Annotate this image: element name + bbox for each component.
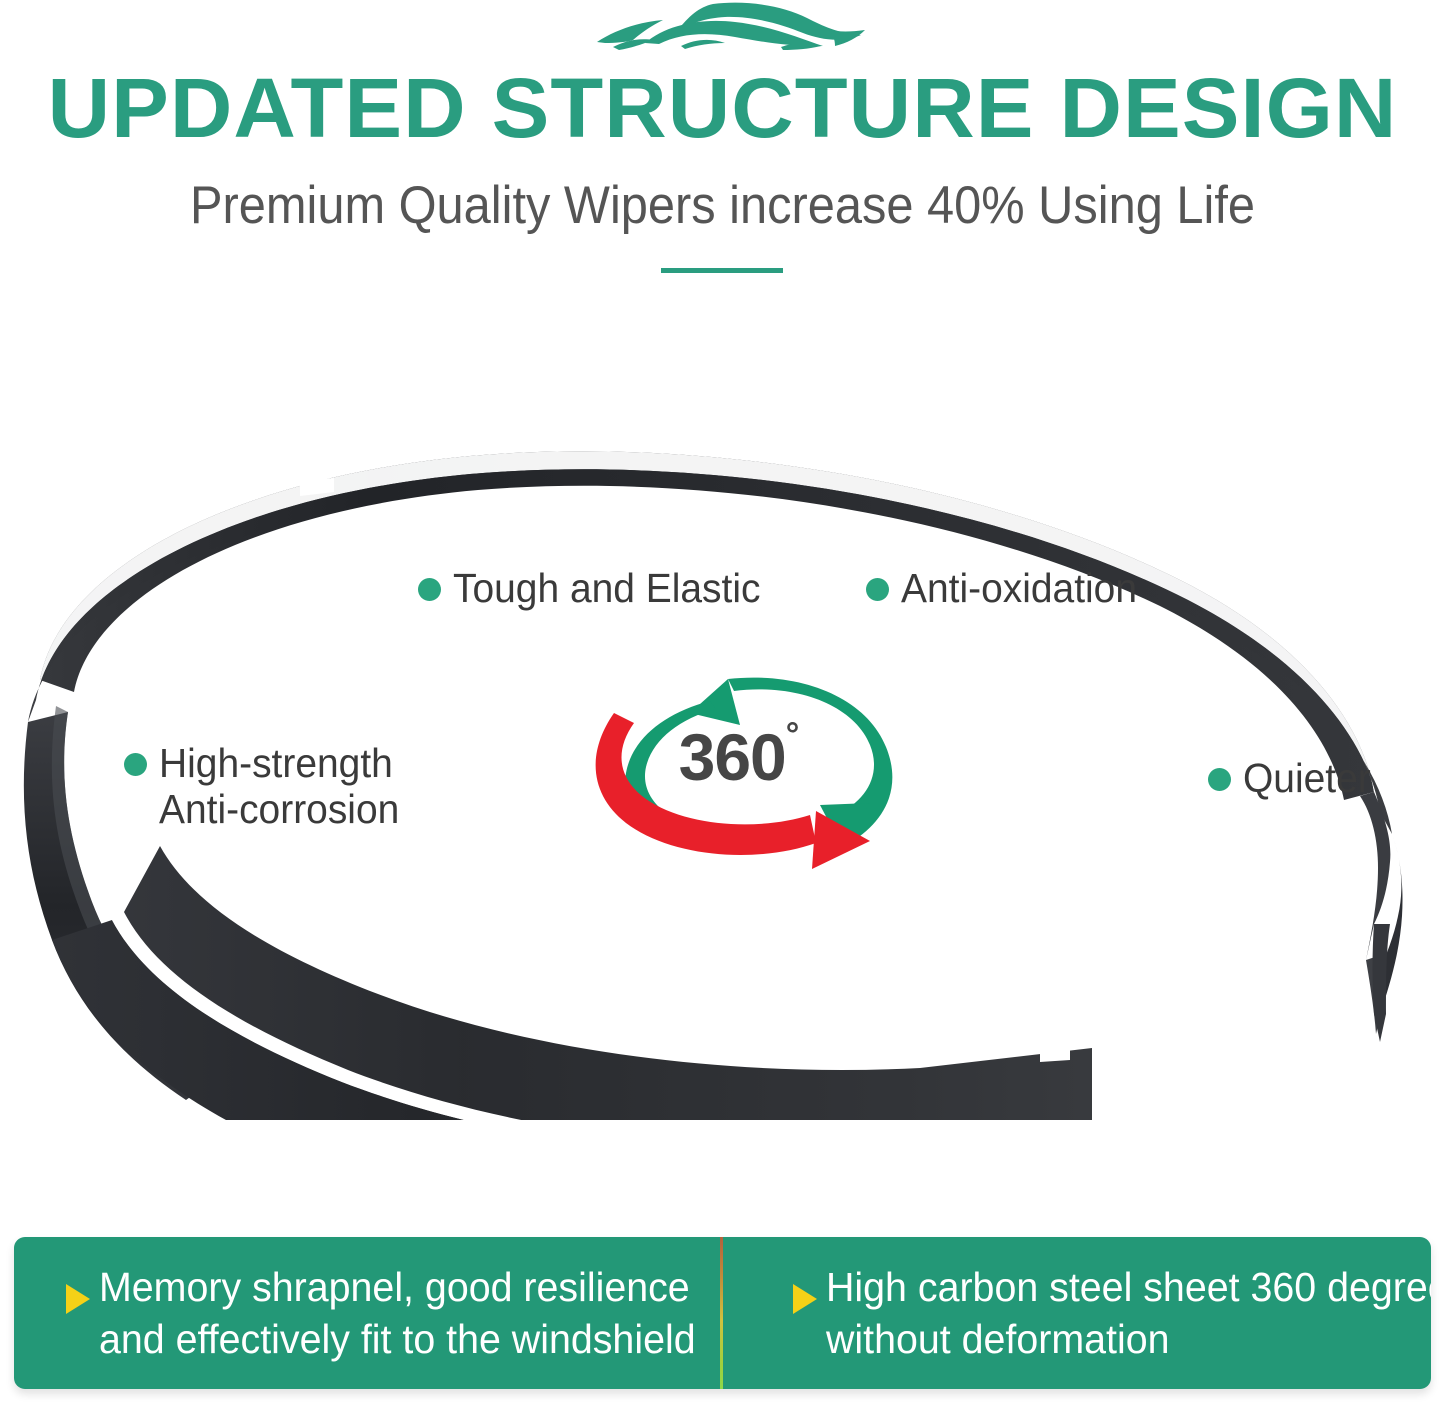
page-title: UPDATED STRUCTURE DESIGN [0, 62, 1445, 154]
title-underline-divider [661, 268, 783, 273]
triangle-bullet-icon [66, 1284, 90, 1314]
banner-left-line2: and effectively fit to the windshield [99, 1313, 696, 1365]
strip-notch-back-2 [288, 540, 322, 558]
feature-label-line2: Anti-corrosion [159, 786, 399, 832]
banner-text-right: High carbon steel sheet 360 degrees with… [826, 1261, 1431, 1365]
bullet-dot-icon [866, 578, 889, 601]
banner-panel-left: Memory shrapnel, good resilience and eff… [14, 1237, 720, 1389]
car-silhouette-icon [585, 2, 875, 64]
banner-panel-right: High carbon steel sheet 360 degrees with… [723, 1237, 1431, 1389]
banner-right-line1: High carbon steel sheet 360 degrees [826, 1264, 1431, 1310]
feature-callout-anti-oxidation: Anti-oxidation [866, 565, 1149, 611]
feature-label: Tough and Elastic [453, 565, 760, 611]
feature-callout-high-strength-anti-corrosion: High-strength Anti-corrosion [124, 740, 412, 832]
bottom-feature-banner: Memory shrapnel, good resilience and eff… [14, 1237, 1431, 1389]
feature-label: Anti-oxidation [901, 565, 1137, 611]
360-degree-rotation-badge: 360 ° [570, 655, 920, 870]
page-subtitle: Premium Quality Wipers increase 40% Usin… [58, 175, 1387, 237]
bullet-dot-icon [124, 753, 147, 776]
banner-text-left: Memory shrapnel, good resilience and eff… [99, 1261, 696, 1365]
feature-label-multiline: High-strength Anti-corrosion [159, 740, 399, 832]
banner-left-line1: Memory shrapnel, good resilience [99, 1264, 690, 1310]
feature-callout-quieter: Quieter [1208, 755, 1377, 801]
feature-label: Quieter [1243, 755, 1371, 801]
strip-notch-upper [1040, 1038, 1070, 1062]
triangle-bullet-icon [793, 1284, 817, 1314]
product-feature-infographic: UPDATED STRUCTURE DESIGN Premium Quality… [0, 0, 1445, 1421]
feature-callout-tough-and-elastic: Tough and Elastic [418, 565, 777, 611]
bullet-dot-icon [1208, 768, 1231, 791]
banner-right-line2: without deformation [826, 1313, 1431, 1365]
bullet-dot-icon [418, 578, 441, 601]
feature-label-line1: High-strength [159, 740, 393, 786]
